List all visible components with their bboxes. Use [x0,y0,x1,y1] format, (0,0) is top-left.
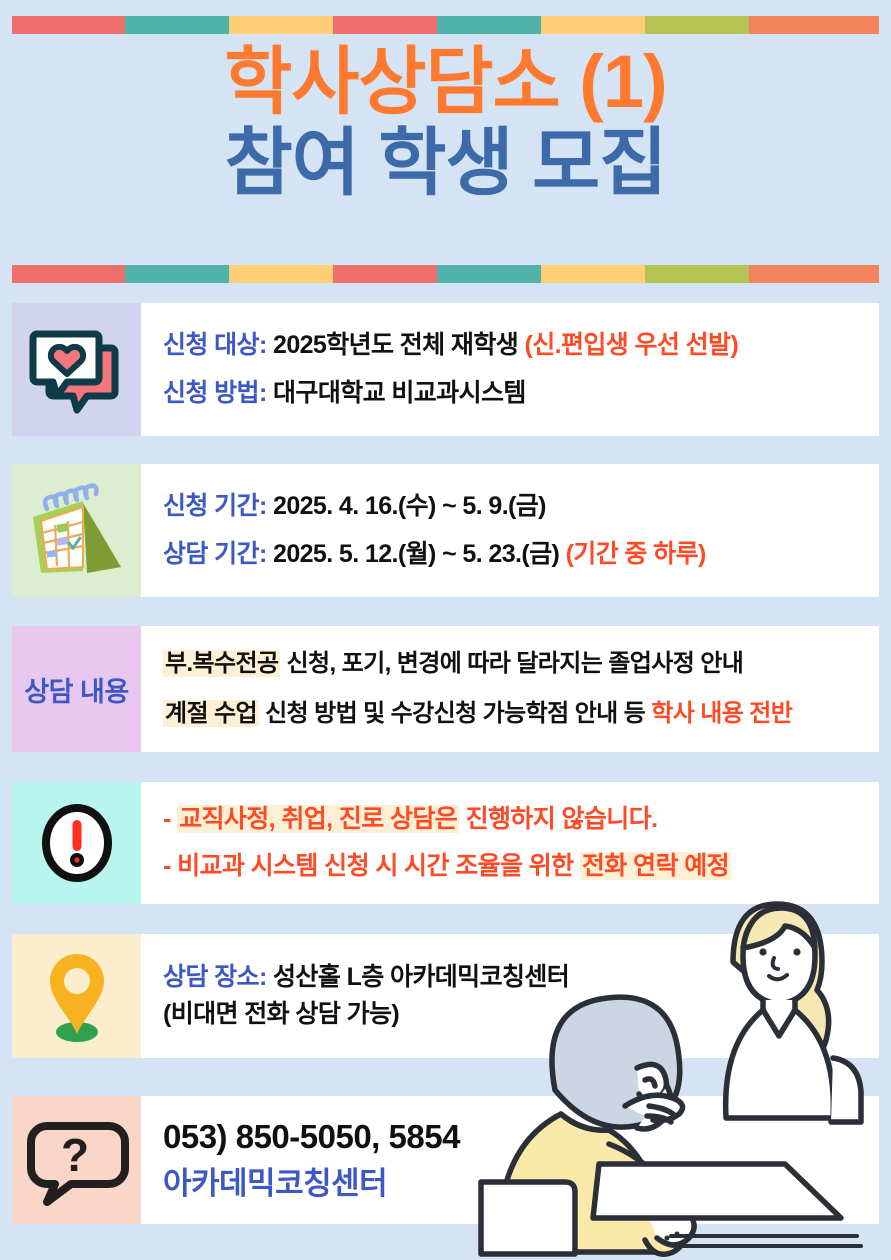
bottom-color-stripe [12,265,879,283]
info-row-location-body: 상담 장소: 성산홀 L층 아카데믹코칭센터 (비대면 전화 상담 가능) [141,934,879,1058]
stripe-segment-7 [645,265,749,283]
svg-text:?: ? [60,1129,88,1181]
application-target-line: 신청 대상: 2025학년도 전체 재학생 (신.편입생 우선 선발) [163,330,865,361]
stripe-segment-6 [541,265,645,283]
exclamation-icon [12,782,141,904]
stripe-segment-8 [749,16,879,34]
location-value: 성산홀 L층 아카데믹코칭센터 [267,963,570,991]
counsel-content-highlight-2: 계절 수업 [163,700,259,727]
stripe-segment-2 [125,265,229,283]
stripe-segment-6 [541,16,645,34]
notice-value-1: 진행하지 않습니다. [459,805,657,833]
notice-value-2: 비교과 시스템 신청 시 시간 조율을 위한 [177,852,580,880]
info-row-period-body: 신청 기간: 2025. 4. 16.(수) ~ 5. 9.(금) 상담 기간:… [141,464,879,597]
info-row-contact-body: 053) 850-5050, 5854 아카데믹코칭센터 [141,1096,879,1224]
info-row-content-body: 부.복수전공 신청, 포기, 변경에 따라 달라지는 졸업사정 안내 계절 수업… [141,626,879,752]
stripe-segment-1 [12,265,125,283]
apply-period-value: 2025. 4. 16.(수) ~ 5. 9.(금) [267,492,546,520]
title-line-2: 참여 학생 모집 [0,125,891,200]
poster-title: 학사상담소 (1) 참여 학생 모집 [0,44,891,201]
counsel-content-value-1: 신청, 포기, 변경에 따라 달라지는 졸업사정 안내 [280,650,743,677]
chat-heart-icon [12,303,141,436]
stripe-segment-1 [12,16,125,34]
info-row-application: 신청 대상: 2025학년도 전체 재학생 (신.편입생 우선 선발) 신청 방… [12,303,879,436]
application-method-label: 신청 방법: [163,379,267,407]
stripe-segment-4 [333,16,437,34]
info-row-contact: ? 053) 850-5050, 5854 아카데믹코칭센터 [12,1096,879,1224]
poster-root: 학사상담소 (1) 참여 학생 모집 신청 대상: 2025학년도 전체 재학생… [0,0,891,1260]
calendar-icon [12,464,141,597]
stripe-segment-3 [229,16,333,34]
notice-dash-1: - [163,805,177,833]
counsel-period-label: 상담 기간: [163,540,267,568]
info-row-period: 신청 기간: 2025. 4. 16.(수) ~ 5. 9.(금) 상담 기간:… [12,464,879,597]
notice-line-2: - 비교과 시스템 신청 시 시간 조율을 위한 전화 연락 예정 [163,851,865,882]
counsel-content-side-label: 상담 내용 [12,626,141,752]
info-row-application-body: 신청 대상: 2025학년도 전체 재학생 (신.편입생 우선 선발) 신청 방… [141,303,879,436]
notice-line-1: - 교직사정, 취업, 진로 상담은 진행하지 않습니다. [163,804,865,835]
application-target-label: 신청 대상: [163,331,267,359]
application-target-value: 2025학년도 전체 재학생 [267,331,525,359]
contact-center-name: 아카데믹코칭센터 [163,1165,865,1204]
location-label: 상담 장소: [163,963,267,991]
location-line-2: (비대면 전화 상담 가능) [163,999,865,1030]
counsel-period-line: 상담 기간: 2025. 5. 12.(월) ~ 5. 23.(금) (기간 중… [163,539,865,570]
notice-dash-2: - [163,852,177,880]
stripe-segment-5 [437,265,541,283]
stripe-segment-7 [645,16,749,34]
stripe-segment-8 [749,265,879,283]
counsel-content-note-2: 학사 내용 전반 [651,700,792,727]
location-pin-icon [12,934,141,1058]
stripe-segment-3 [229,265,333,283]
top-color-stripe [12,16,879,34]
info-row-location: 상담 장소: 성산홀 L층 아카데믹코칭센터 (비대면 전화 상담 가능) [12,934,879,1058]
location-line-1: 상담 장소: 성산홀 L층 아카데믹코칭센터 [163,962,865,993]
contact-phone[interactable]: 053) 850-5050, 5854 [163,1116,865,1157]
counsel-content-label-text: 상담 내용 [24,670,128,709]
counsel-content-line-2: 계절 수업 신청 방법 및 수강신청 가능학점 안내 등 학사 내용 전반 [163,699,865,729]
application-method-value: 대구대학교 비교과시스템 [267,379,526,407]
notice-highlight-1: 교직사정, 취업, 진로 상담은 [177,805,459,833]
apply-period-label: 신청 기간: [163,492,267,520]
stripe-segment-5 [437,16,541,34]
info-row-notice: - 교직사정, 취업, 진로 상담은 진행하지 않습니다. - 비교과 시스템 … [12,782,879,904]
counsel-content-highlight-1: 부.복수전공 [163,650,280,677]
application-method-line: 신청 방법: 대구대학교 비교과시스템 [163,378,865,409]
title-line-1: 학사상담소 (1) [0,44,891,119]
counsel-content-line-1: 부.복수전공 신청, 포기, 변경에 따라 달라지는 졸업사정 안내 [163,649,865,679]
question-bubble-icon: ? [12,1096,141,1224]
counsel-period-note: (기간 중 하루) [566,540,706,568]
stripe-segment-4 [333,265,437,283]
apply-period-line: 신청 기간: 2025. 4. 16.(수) ~ 5. 9.(금) [163,491,865,522]
notice-highlight-2: 전화 연락 예정 [580,852,731,880]
info-row-content: 상담 내용 부.복수전공 신청, 포기, 변경에 따라 달라지는 졸업사정 안내… [12,626,879,752]
counsel-content-value-2: 신청 방법 및 수강신청 가능학점 안내 등 [259,700,651,727]
info-row-notice-body: - 교직사정, 취업, 진로 상담은 진행하지 않습니다. - 비교과 시스템 … [141,782,879,904]
counsel-period-value: 2025. 5. 12.(월) ~ 5. 23.(금) [267,540,566,568]
stripe-segment-2 [125,16,229,34]
application-target-note: (신.편입생 우선 선발) [524,331,738,359]
